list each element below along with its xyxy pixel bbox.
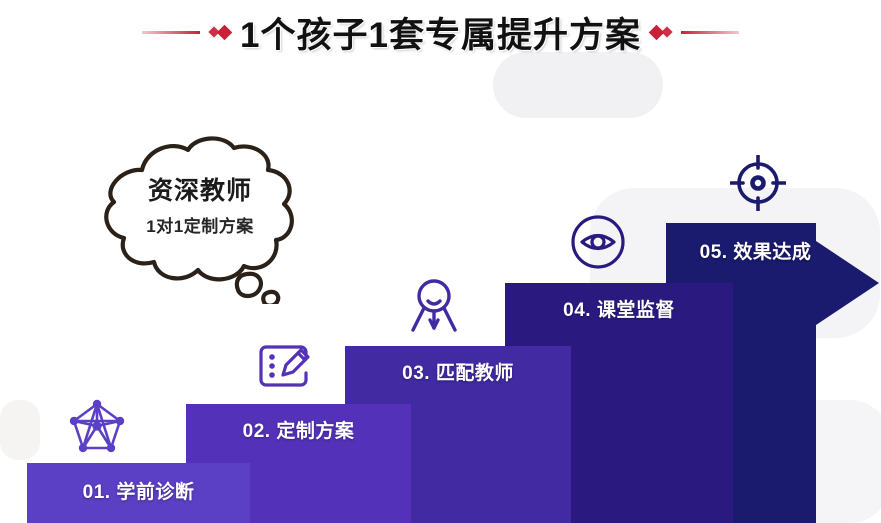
step-01[interactable]: 01. 学前诊断 xyxy=(27,463,250,523)
bubble-title: 资深教师 xyxy=(84,178,316,206)
step-04-label: 04. 课堂监督 xyxy=(563,283,675,322)
page-title-row: 1个孩子1套专属提升方案 xyxy=(0,6,881,58)
crosshair-target-icon xyxy=(730,155,786,211)
eye-circle-icon xyxy=(570,214,626,270)
bubble-subtitle: 1对1定制方案 xyxy=(84,212,316,237)
step-03-label: 03. 匹配教师 xyxy=(402,346,514,385)
clipboard-pencil-icon xyxy=(256,341,312,391)
step-02-label: 02. 定制方案 xyxy=(243,404,355,443)
diamond-left-icon xyxy=(210,27,230,38)
pentagon-network-icon xyxy=(69,398,125,454)
diamond-right-icon xyxy=(651,27,671,38)
thought-bubble-text: 资深教师 1对1定制方案 xyxy=(84,178,316,237)
step-05-label: 05. 效果达成 xyxy=(700,223,848,264)
infographic-canvas: 1个孩子1套专属提升方案 资深教师 1对1定制方案 05. 效果达成 04. 课… xyxy=(0,0,881,523)
background-blob xyxy=(0,400,40,460)
step-01-label: 01. 学前诊断 xyxy=(83,463,195,504)
background-blob xyxy=(493,52,663,118)
teacher-person-icon xyxy=(408,278,460,334)
title-rule-right-icon xyxy=(681,31,739,34)
page-title: 1个孩子1套专属提升方案 xyxy=(240,7,641,58)
thought-bubble: 资深教师 1对1定制方案 xyxy=(84,134,316,304)
title-rule-left-icon xyxy=(142,31,200,34)
